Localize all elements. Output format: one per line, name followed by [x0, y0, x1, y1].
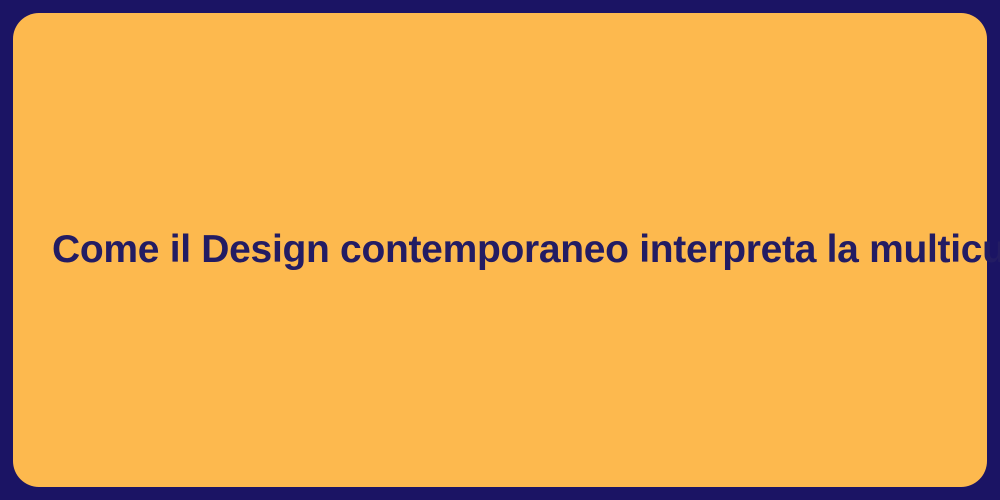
card-frame: Come il Design contemporaneo interpreta … [0, 0, 1000, 500]
headline-text: Come il Design contemporaneo interpreta … [52, 227, 1000, 273]
card-panel: Come il Design contemporaneo interpreta … [13, 13, 987, 487]
